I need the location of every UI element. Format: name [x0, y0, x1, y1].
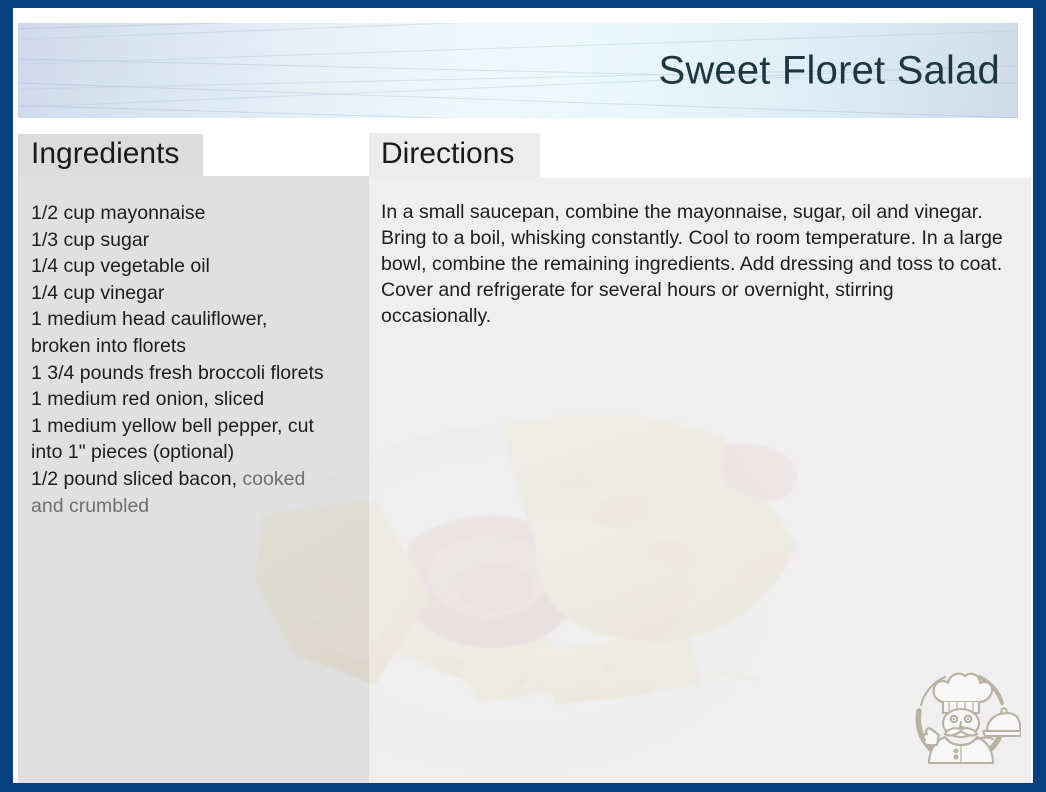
list-item: 1 medium head cauliflower, broken into f… [31, 306, 367, 359]
title-banner: Sweet Floret Salad [18, 23, 1018, 118]
list-item: 1 medium yellow bell pepper, cut into 1"… [31, 413, 367, 466]
list-item: 1 medium red onion, sliced [31, 386, 367, 413]
list-item: 1/3 cup sugar [31, 227, 367, 254]
page-title: Sweet Floret Salad [658, 48, 1000, 93]
slide-inner-area: Sweet Floret Salad [13, 8, 1033, 783]
list-item: 1/2 pound sliced bacon, cooked and crumb… [31, 466, 367, 519]
list-item-main: 1/2 pound sliced bacon, [31, 468, 237, 490]
directions-body-text: In a small saucepan, combine the mayonna… [381, 199, 1003, 329]
ingredients-heading: Ingredients [31, 137, 179, 171]
list-item: 1/2 cup mayonnaise [31, 200, 367, 227]
list-item: 1 3/4 pounds fresh broccoli florets [31, 360, 367, 387]
list-item: 1/4 cup vinegar [31, 280, 367, 307]
ingredients-list: 1/2 cup mayonnaise 1/3 cup sugar 1/4 cup… [31, 200, 367, 519]
recipe-slide: Sweet Floret Salad [0, 0, 1046, 792]
chef-with-cloche-logo [901, 657, 1021, 777]
directions-heading: Directions [381, 137, 514, 171]
list-item: 1/4 cup vegetable oil [31, 253, 367, 280]
